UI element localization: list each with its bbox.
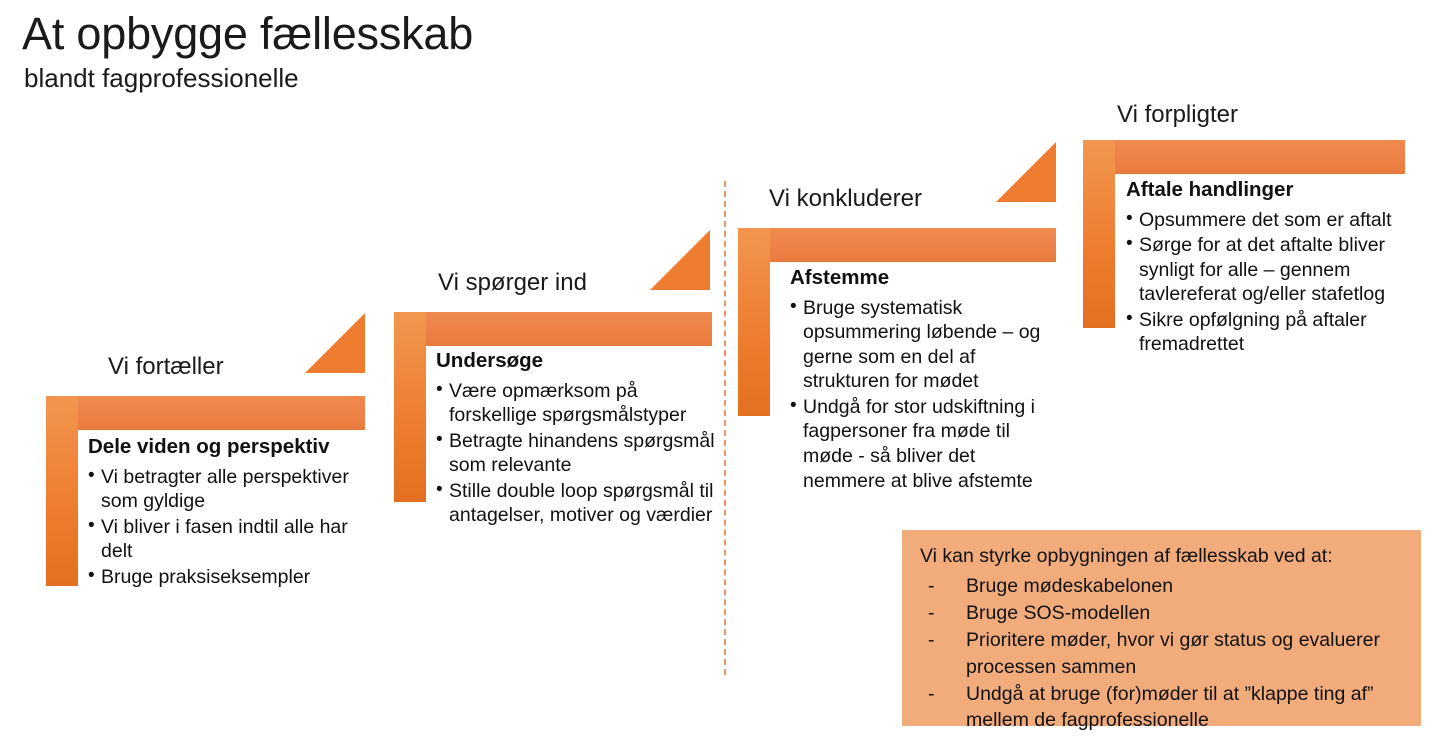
summary-callout-box: Vi kan styrke opbygningen af fællesskab … xyxy=(902,530,1421,726)
page-title: At opbygge fællesskab xyxy=(22,8,473,60)
phase-side-bar-2 xyxy=(394,312,426,502)
list-item: Bruge mødeskabelonen xyxy=(920,573,1403,599)
step-connector-arrow-3 xyxy=(996,142,1056,202)
phase-side-bar-1 xyxy=(46,396,78,586)
phase-bullet-list-3: Bruge systematisk opsummering løbende – … xyxy=(790,296,1062,494)
phase-content-1: Dele viden og perspektiv Vi betragter al… xyxy=(88,435,373,590)
list-item: Stille double loop spørgsmål til antagel… xyxy=(436,479,716,528)
phase-heading-2: Undersøge xyxy=(436,349,716,374)
phase-bullet-list-2: Være opmærksom på forskellige spørgsmåls… xyxy=(436,379,716,528)
dashed-divider xyxy=(724,181,726,675)
list-item: Undgå for stor udskiftning i fagpersoner… xyxy=(790,395,1062,493)
list-item: Opsummere det som er aftalt xyxy=(1126,208,1411,233)
phase-content-3: Afstemme Bruge systematisk opsummering l… xyxy=(790,266,1062,494)
summary-intro-text: Vi kan styrke opbygningen af fællesskab … xyxy=(920,544,1403,570)
list-item: Bruge SOS-modellen xyxy=(920,600,1403,626)
phase-content-2: Undersøge Være opmærksom på forskellige … xyxy=(436,349,716,529)
list-item: Sørge for at det aftalte bliver synligt … xyxy=(1126,233,1411,307)
list-item: Være opmærksom på forskellige spørgsmåls… xyxy=(436,379,716,428)
phase-top-bar-1 xyxy=(46,396,365,430)
page-subtitle: blandt fagprofessionelle xyxy=(24,63,299,94)
list-item: Vi betragter alle perspektiver som gyldi… xyxy=(88,465,373,514)
phase-label-4: Vi forpligter xyxy=(1117,102,1238,128)
phase-heading-1: Dele viden og perspektiv xyxy=(88,435,373,460)
list-item: Bruge systematisk opsummering løbende – … xyxy=(790,296,1062,394)
phase-heading-3: Afstemme xyxy=(790,266,1062,291)
list-item: Betragte hinandens spørgsmål som relevan… xyxy=(436,429,716,478)
phase-label-2: Vi spørger ind xyxy=(438,270,587,296)
list-item: Prioritere møder, hvor vi gør status og … xyxy=(920,627,1403,680)
phase-top-bar-4 xyxy=(1083,140,1405,174)
phase-label-1: Vi fortæller xyxy=(108,354,224,380)
phase-side-bar-4 xyxy=(1083,140,1115,328)
phase-bullet-list-1: Vi betragter alle perspektiver som gyldi… xyxy=(88,465,373,590)
phase-top-bar-3 xyxy=(738,228,1056,262)
summary-item-list: Bruge mødeskabelonen Bruge SOS-modellen … xyxy=(920,573,1403,734)
step-connector-arrow-1 xyxy=(305,313,365,373)
list-item: Vi bliver i fasen indtil alle har delt xyxy=(88,515,373,564)
list-item: Undgå at bruge (for)møder til at ”klappe… xyxy=(920,681,1403,734)
list-item: Bruge praksiseksempler xyxy=(88,565,373,590)
phase-top-bar-2 xyxy=(394,312,712,346)
phase-label-3: Vi konkluderer xyxy=(769,186,922,212)
phase-side-bar-3 xyxy=(738,228,770,416)
step-connector-arrow-2 xyxy=(650,230,710,290)
phase-heading-4: Aftale handlinger xyxy=(1126,178,1411,203)
slide-canvas: At opbygge fællesskab blandt fagprofessi… xyxy=(0,0,1433,745)
phase-content-4: Aftale handlinger Opsummere det som er a… xyxy=(1126,178,1411,358)
list-item: Sikre opfølgning på aftaler fremadrettet xyxy=(1126,308,1411,357)
phase-bullet-list-4: Opsummere det som er aftalt Sørge for at… xyxy=(1126,208,1411,357)
